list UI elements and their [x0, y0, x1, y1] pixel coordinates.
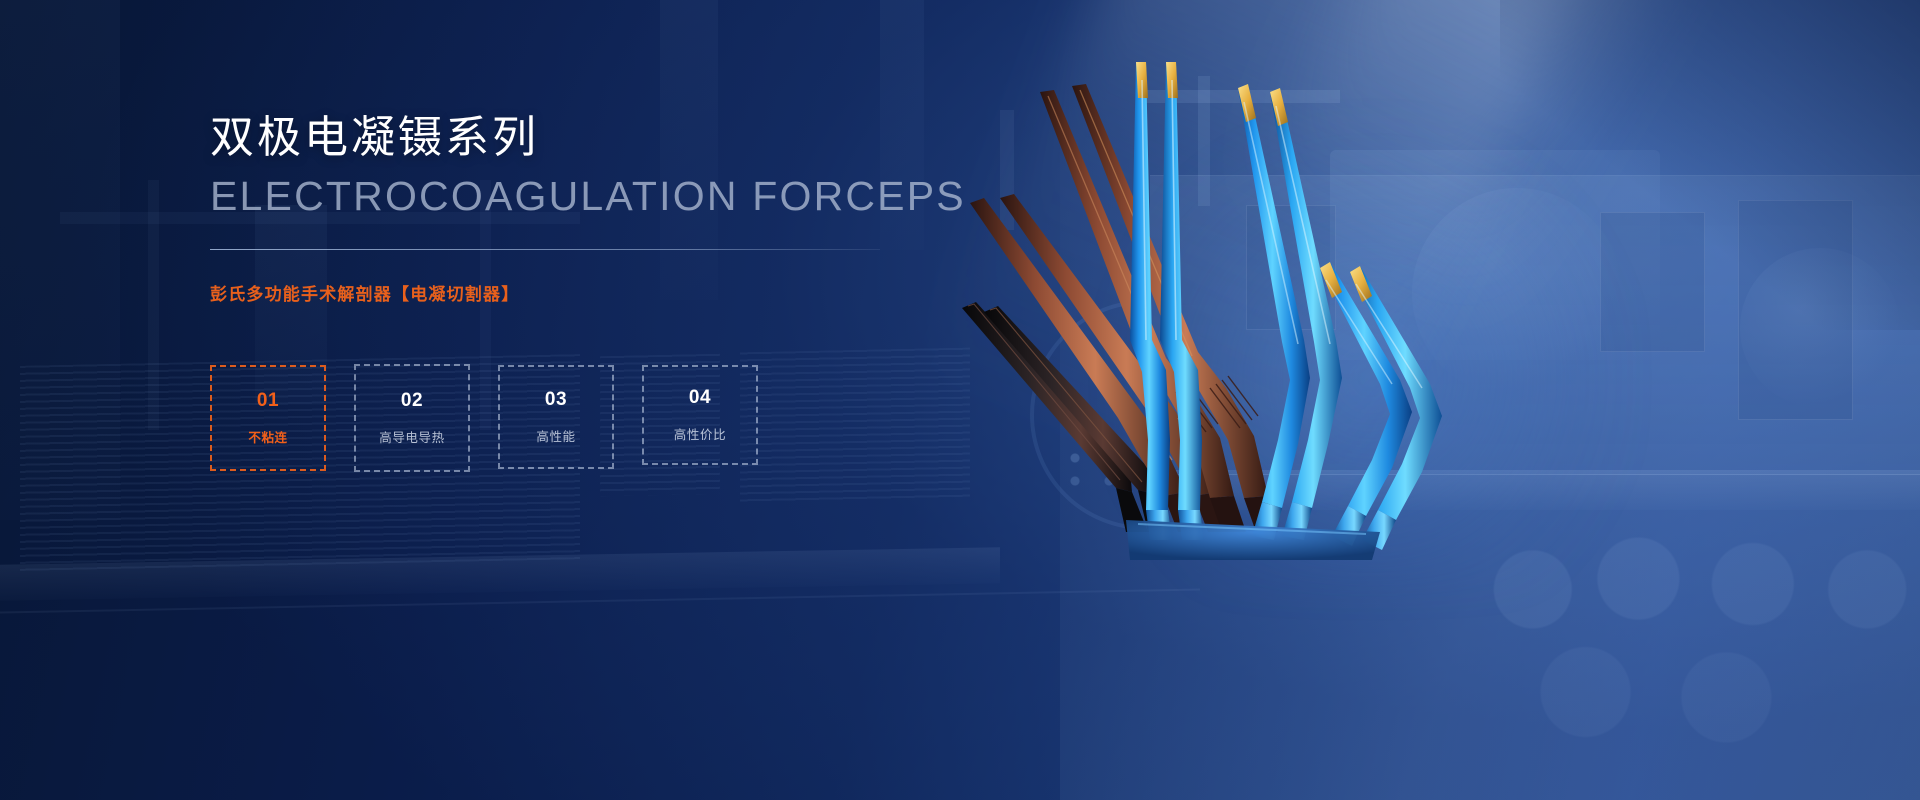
- feature-label: 高性能: [536, 426, 575, 445]
- feature-list: 01 不粘连 02 高导电导热 03 高性能 04 高性价比: [210, 365, 786, 472]
- divider: [210, 249, 880, 250]
- feature-item-04[interactable]: 04 高性价比: [642, 365, 758, 465]
- feature-item-01[interactable]: 01 不粘连: [210, 365, 326, 471]
- product-image-forceps-fan: [880, 40, 1480, 560]
- copy-block: 双极电凝镊系列 ELECTROCOAGULATION FORCEPS 彭氏多功能…: [210, 112, 910, 305]
- product-subtitle: 彭氏多功能手术解剖器【电凝切割器】: [210, 280, 910, 305]
- background-disc: [1740, 248, 1900, 408]
- background-floor-edge: [0, 588, 1200, 613]
- product-banner: 双极电凝镊系列 ELECTROCOAGULATION FORCEPS 彭氏多功能…: [0, 0, 1920, 800]
- page-title-english: ELECTROCOAGULATION FORCEPS: [210, 174, 910, 219]
- background-panel: [1600, 212, 1705, 352]
- feature-item-03[interactable]: 03 高性能: [498, 365, 614, 469]
- feature-label: 高性价比: [674, 424, 726, 443]
- page-title: 双极电凝镊系列: [210, 112, 910, 164]
- background-panel: [1738, 200, 1853, 420]
- feature-number: 03: [545, 390, 567, 409]
- background-chairs: [1480, 530, 1920, 800]
- feature-number: 02: [401, 391, 423, 410]
- corner-vignette: [1500, 0, 1920, 330]
- feature-number: 01: [257, 391, 279, 410]
- feature-label: 不粘连: [248, 427, 287, 446]
- background-left-column: [0, 0, 120, 520]
- background-sill: [0, 547, 1000, 600]
- feature-number: 04: [689, 388, 711, 407]
- feature-label: 高导电导热: [379, 427, 445, 446]
- feature-item-02[interactable]: 02 高导电导热: [354, 364, 470, 472]
- background-beam: [148, 180, 159, 430]
